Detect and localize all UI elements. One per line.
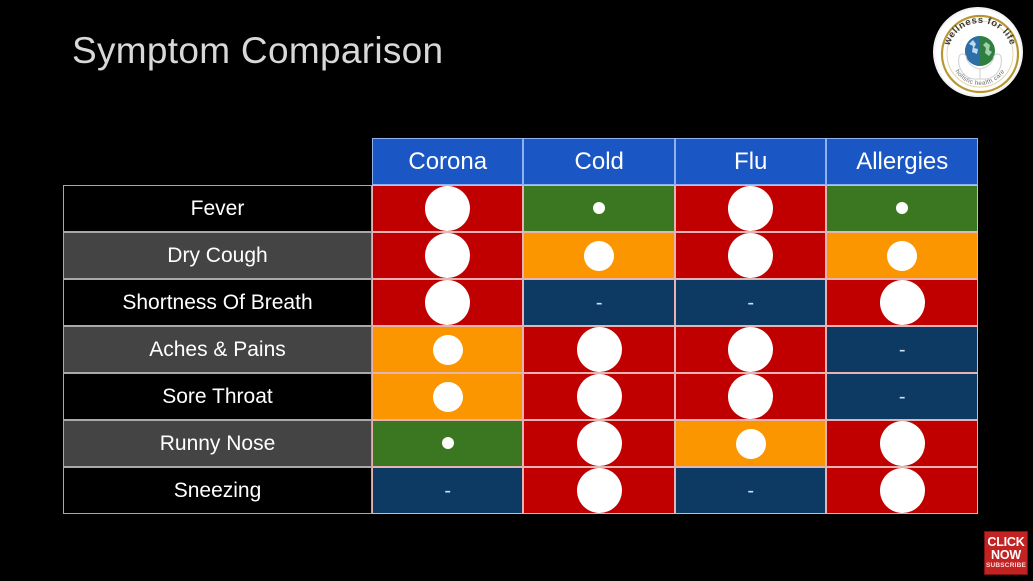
dash-marker: - (899, 387, 906, 407)
cell-shortness-of-breath-flu: - (675, 279, 826, 326)
table-corner-cell (63, 138, 372, 185)
cell-runny-nose-flu (675, 420, 826, 467)
severity-dot-high (880, 421, 925, 466)
severity-dot-high (728, 374, 773, 419)
severity-dot-high (425, 280, 470, 325)
wellness-for-life-logo: wellness for life holistic health care (933, 7, 1023, 97)
cell-fever-corona (372, 185, 523, 232)
cell-runny-nose-allergies (826, 420, 978, 467)
cell-sore-throat-flu (675, 373, 826, 420)
severity-dot-medium (433, 382, 463, 412)
severity-dot-high (880, 468, 925, 513)
dash-marker: - (747, 293, 754, 313)
column-header-flu: Flu (675, 138, 826, 185)
subscribe-line-3: SUBSCRIBE (986, 563, 1026, 570)
dash-marker: - (596, 293, 603, 313)
table-row: Sore Throat- (63, 373, 978, 420)
table-row: Shortness Of Breath-- (63, 279, 978, 326)
severity-dot-high (728, 186, 773, 231)
table-row: Dry Cough (63, 232, 978, 279)
severity-dot-low (442, 437, 454, 449)
table-row: Runny Nose (63, 420, 978, 467)
row-label-aches-pains: Aches & Pains (63, 326, 372, 373)
cell-shortness-of-breath-allergies (826, 279, 978, 326)
severity-dot-high (728, 233, 773, 278)
severity-dot-medium (736, 429, 766, 459)
row-label-runny-nose: Runny Nose (63, 420, 372, 467)
cell-aches-pains-corona (372, 326, 523, 373)
cell-aches-pains-allergies: - (826, 326, 978, 373)
table-header-row: CoronaColdFluAllergies (63, 138, 978, 185)
cell-sore-throat-corona (372, 373, 523, 420)
cell-dry-cough-flu (675, 232, 826, 279)
subscribe-line-1: CLICK (987, 536, 1024, 549)
cell-sneezing-flu: - (675, 467, 826, 514)
row-label-fever: Fever (63, 185, 372, 232)
dash-marker: - (899, 340, 906, 360)
table-body: FeverDry CoughShortness Of Breath--Aches… (63, 185, 978, 514)
row-label-shortness-of-breath: Shortness Of Breath (63, 279, 372, 326)
severity-dot-high (728, 327, 773, 372)
row-label-sneezing: Sneezing (63, 467, 372, 514)
cell-shortness-of-breath-cold: - (523, 279, 674, 326)
cell-runny-nose-cold (523, 420, 674, 467)
severity-dot-high (577, 468, 622, 513)
severity-dot-high (425, 186, 470, 231)
cell-dry-cough-corona (372, 232, 523, 279)
column-header-cold: Cold (523, 138, 674, 185)
table-header: CoronaColdFluAllergies (63, 138, 978, 185)
cell-aches-pains-flu (675, 326, 826, 373)
cell-fever-allergies (826, 185, 978, 232)
severity-dot-low (593, 202, 605, 214)
page-title: Symptom Comparison (72, 30, 443, 72)
severity-dot-medium (887, 241, 917, 271)
cell-sore-throat-allergies: - (826, 373, 978, 420)
table-row: Aches & Pains- (63, 326, 978, 373)
severity-dot-medium (584, 241, 614, 271)
cell-dry-cough-cold (523, 232, 674, 279)
cell-sneezing-cold (523, 467, 674, 514)
severity-dot-high (577, 421, 622, 466)
cell-sneezing-allergies (826, 467, 978, 514)
severity-dot-high (880, 280, 925, 325)
severity-dot-high (577, 374, 622, 419)
severity-dot-high (577, 327, 622, 372)
column-header-allergies: Allergies (826, 138, 978, 185)
cell-dry-cough-allergies (826, 232, 978, 279)
cell-aches-pains-cold (523, 326, 674, 373)
subscribe-badge[interactable]: CLICK NOW SUBSCRIBE (984, 531, 1028, 575)
cell-fever-cold (523, 185, 674, 232)
severity-dot-medium (433, 335, 463, 365)
cell-sore-throat-cold (523, 373, 674, 420)
dash-marker: - (444, 481, 451, 501)
table-row: Fever (63, 185, 978, 232)
severity-dot-high (425, 233, 470, 278)
severity-dot-low (896, 202, 908, 214)
subscribe-line-2: NOW (991, 549, 1021, 562)
row-label-dry-cough: Dry Cough (63, 232, 372, 279)
cell-fever-flu (675, 185, 826, 232)
column-header-corona: Corona (372, 138, 523, 185)
symptom-comparison-table: CoronaColdFluAllergies FeverDry CoughSho… (63, 138, 978, 514)
cell-runny-nose-corona (372, 420, 523, 467)
dash-marker: - (747, 481, 754, 501)
cell-shortness-of-breath-corona (372, 279, 523, 326)
slide-canvas: Symptom Comparison wellness for life hol (0, 0, 1033, 581)
row-label-sore-throat: Sore Throat (63, 373, 372, 420)
table-row: Sneezing-- (63, 467, 978, 514)
cell-sneezing-corona: - (372, 467, 523, 514)
